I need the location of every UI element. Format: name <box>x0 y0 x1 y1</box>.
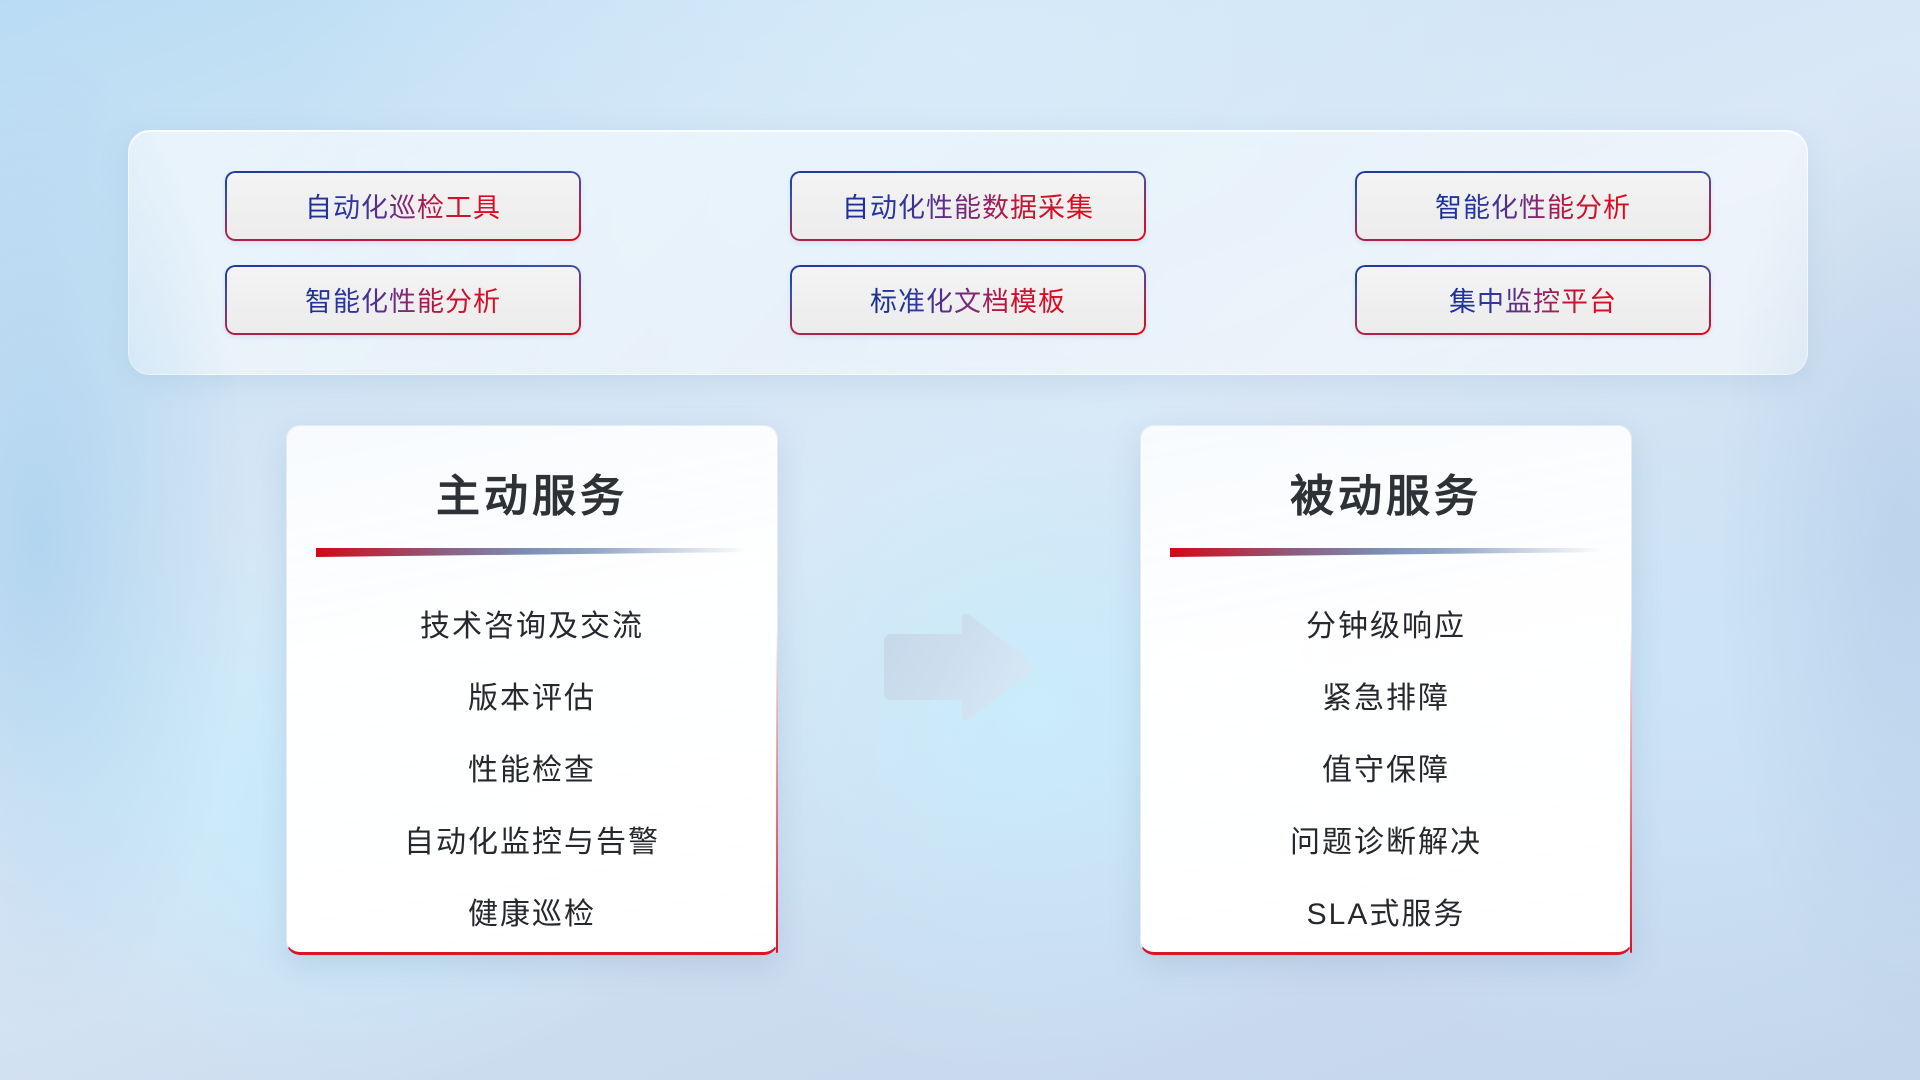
chip-label: 自动化性能数据采集 <box>842 186 1094 225</box>
card-accent-edge <box>776 626 778 953</box>
list-item: 技术咨询及交流 <box>420 591 644 663</box>
chip-centralized-monitoring-platform[interactable]: 集中监控平台 <box>1355 265 1711 335</box>
card-accent-edge <box>1630 626 1632 953</box>
card-title: 被动服务 <box>1290 460 1482 524</box>
list-item: 紧急排障 <box>1322 663 1450 735</box>
chip-row-2: 智能化性能分析 标准化文档模板 集中监控平台 <box>225 265 1711 335</box>
card-item-list: 技术咨询及交流 版本评估 性能检查 自动化监控与告警 健康巡检 <box>287 591 777 951</box>
chip-automated-performance-data-collection[interactable]: 自动化性能数据采集 <box>790 171 1146 241</box>
list-item: 问题诊断解决 <box>1290 807 1482 879</box>
list-item: 性能检查 <box>468 735 596 807</box>
list-item: 值守保障 <box>1322 735 1450 807</box>
chip-label: 集中监控平台 <box>1449 280 1617 319</box>
capability-chips-panel: 自动化巡检工具 自动化性能数据采集 智能化性能分析 智能化性能分析 标准化文档模… <box>128 130 1808 375</box>
service-card-proactive: 主动服务 技术咨询及交流 版本评估 性能检查 自动化监控与告警 健康巡检 <box>286 425 778 955</box>
chip-intelligent-performance-analysis-top[interactable]: 智能化性能分析 <box>1355 171 1711 241</box>
list-item: 健康巡检 <box>468 879 596 951</box>
chip-label: 标准化文档模板 <box>870 280 1066 319</box>
card-title: 主动服务 <box>436 460 628 524</box>
chip-standardized-document-template[interactable]: 标准化文档模板 <box>790 265 1146 335</box>
list-item: SLA式服务 <box>1307 879 1466 951</box>
list-item: 版本评估 <box>468 663 596 735</box>
service-card-reactive: 被动服务 分钟级响应 紧急排障 值守保障 问题诊断解决 SLA式服务 <box>1140 425 1632 955</box>
chip-label: 自动化巡检工具 <box>305 186 501 225</box>
list-item: 自动化监控与告警 <box>404 807 660 879</box>
chip-row-1: 自动化巡检工具 自动化性能数据采集 智能化性能分析 <box>225 171 1711 241</box>
chip-intelligent-performance-analysis[interactable]: 智能化性能分析 <box>225 265 581 335</box>
chip-label: 智能化性能分析 <box>1435 186 1631 225</box>
card-divider <box>316 548 748 557</box>
chip-automated-inspection-tool[interactable]: 自动化巡检工具 <box>225 171 581 241</box>
right-arrow-icon <box>876 608 1036 726</box>
card-item-list: 分钟级响应 紧急排障 值守保障 问题诊断解决 SLA式服务 <box>1141 591 1631 951</box>
slide-canvas: 自动化巡检工具 自动化性能数据采集 智能化性能分析 智能化性能分析 标准化文档模… <box>0 0 1920 1080</box>
card-divider <box>1170 548 1602 557</box>
chip-label: 智能化性能分析 <box>305 280 501 319</box>
list-item: 分钟级响应 <box>1306 591 1466 663</box>
